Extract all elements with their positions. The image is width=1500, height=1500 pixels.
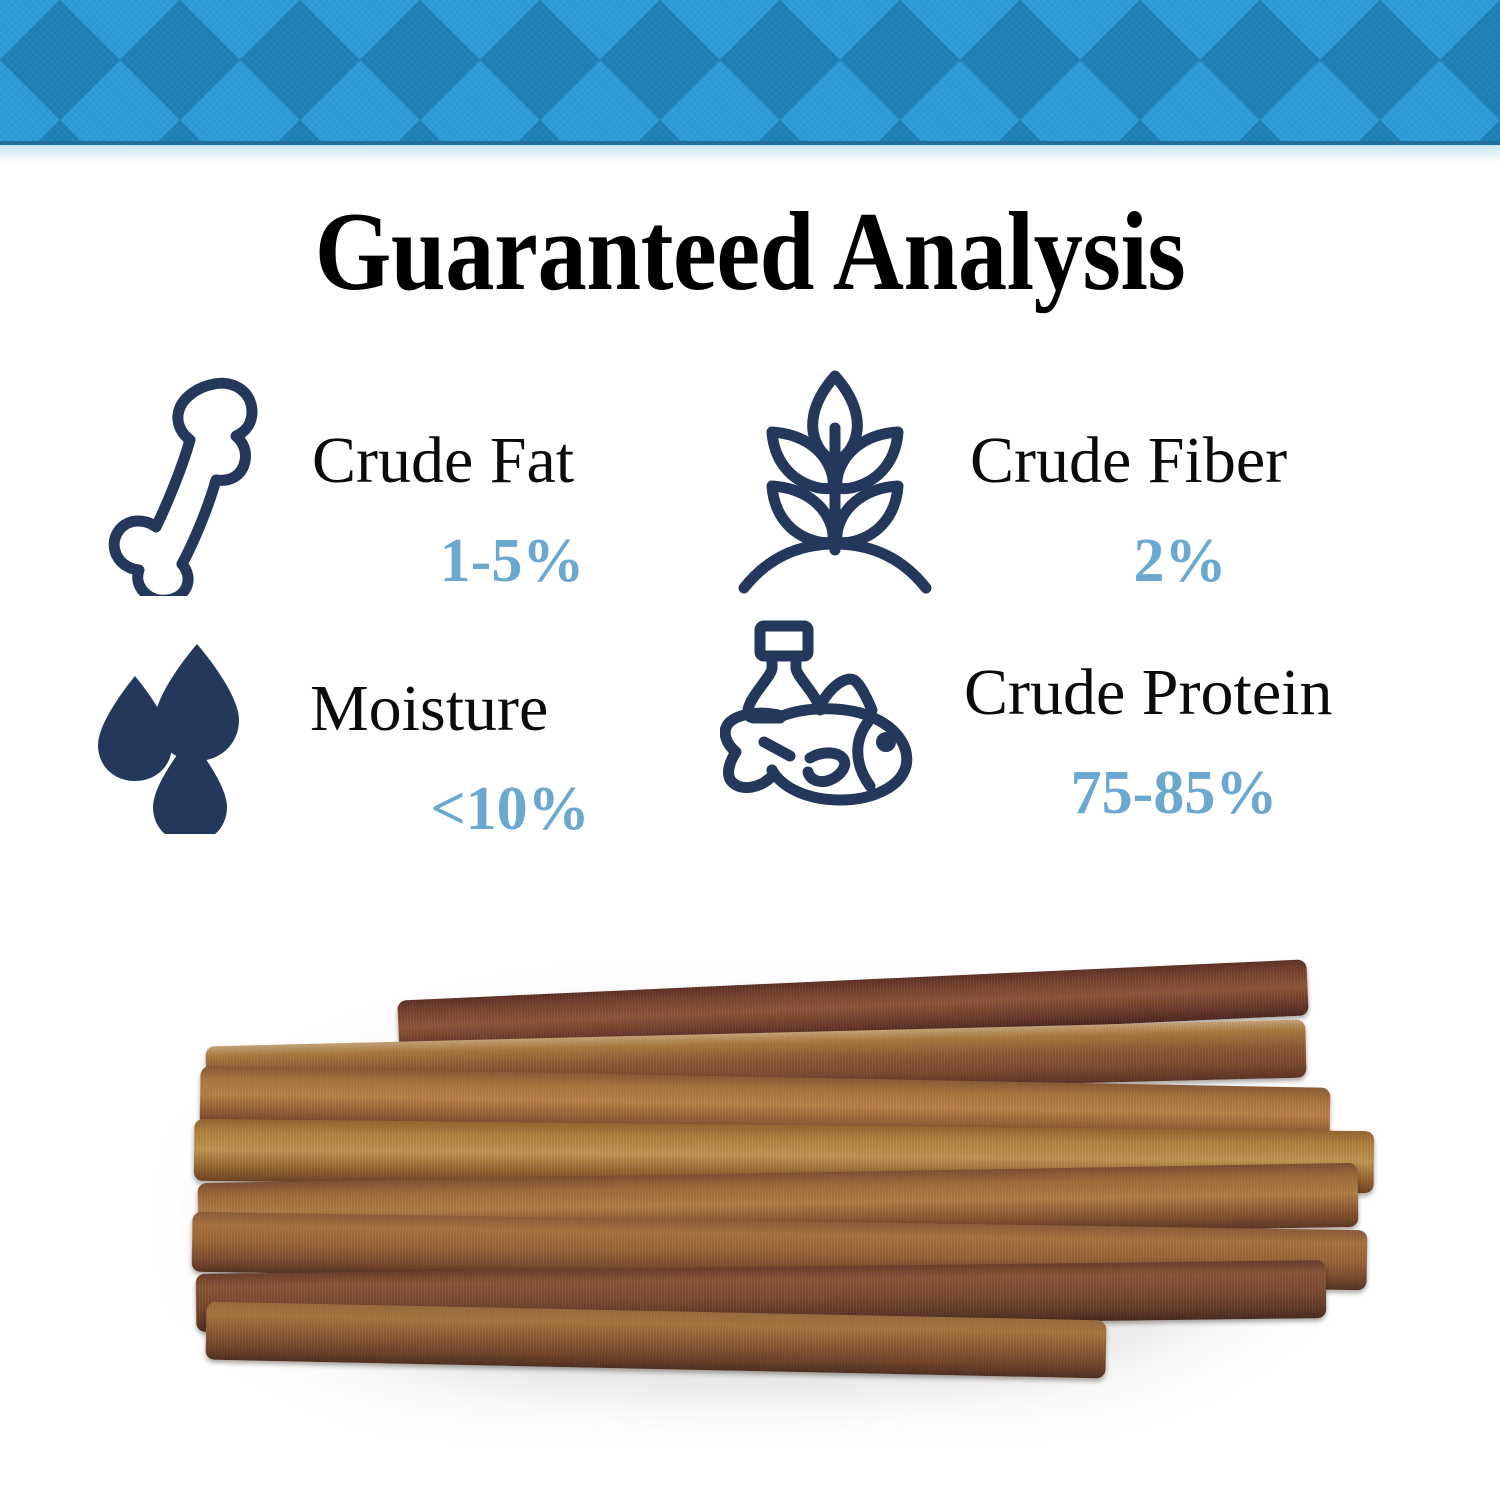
stat-label-crude-fat: Crude Fat: [312, 428, 712, 494]
stat-text-crude-fiber: Crude Fiber 2%: [970, 428, 1390, 592]
header-gingham-band: [0, 0, 1500, 145]
stat-label-crude-fiber: Crude Fiber: [970, 428, 1390, 494]
water-drops-icon: [94, 634, 294, 839]
stat-label-crude-protein: Crude Protein: [964, 660, 1384, 726]
bully-sticks-pile-photo: [150, 955, 1360, 1425]
bone-icon: [102, 366, 292, 601]
stat-item-crude-fiber: Crude Fiber 2%: [720, 366, 1380, 601]
wheat-plant-icon: [730, 366, 940, 603]
stat-value-moisture: <10%: [310, 778, 710, 840]
stat-value-crude-protein: 75-85%: [964, 762, 1384, 824]
bully-sticks-group: [150, 955, 1360, 1425]
stat-label-moisture: Moisture: [310, 676, 710, 742]
stat-item-crude-fat: Crude Fat 1-5%: [80, 360, 740, 595]
stat-text-moisture: Moisture <10%: [310, 676, 710, 840]
gingham-weave-texture: [0, 0, 1500, 145]
stat-item-crude-protein: Crude Protein 75-85%: [720, 608, 1380, 843]
stat-value-crude-fat: 1-5%: [312, 530, 712, 592]
stat-text-crude-fat: Crude Fat 1-5%: [312, 428, 712, 592]
guaranteed-analysis-grid: Crude Fat 1-5%: [60, 360, 1460, 850]
stat-item-moisture: Moisture <10%: [80, 618, 740, 853]
header-fade: [0, 145, 1500, 163]
page-title: Guaranteed Analysis: [90, 196, 1410, 308]
stat-value-crude-fiber: 2%: [970, 530, 1390, 592]
stat-text-crude-protein: Crude Protein 75-85%: [964, 660, 1384, 824]
fish-oil-bottle-icon: [720, 618, 938, 823]
